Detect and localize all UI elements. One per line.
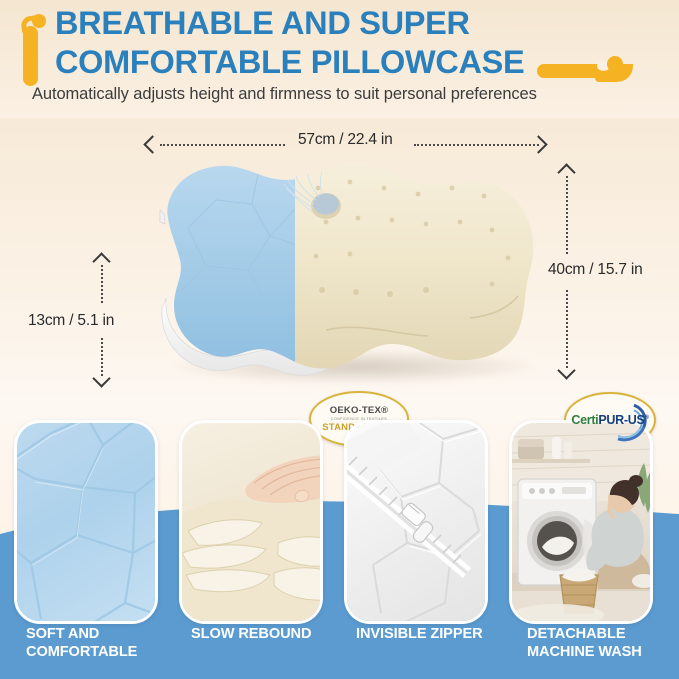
hand-shape	[245, 455, 323, 503]
person-standing-body	[23, 26, 38, 86]
pillow-care-tag	[160, 210, 165, 224]
person-standing-head	[32, 14, 46, 28]
height-dimension-label: 40cm / 15.7 in	[548, 261, 643, 279]
width-dimension-line-left	[160, 144, 285, 146]
quilt-stitch-pattern	[17, 423, 158, 624]
pillow-product-photo: OEKO-TEX® CONFIDENCE IN TEXTILES STANDAR…	[140, 158, 560, 394]
thickness-dimension-label: 13cm / 5.1 in	[28, 312, 114, 330]
certipur-registered-mark: ®	[644, 415, 648, 421]
foam-impression-shapes	[182, 423, 323, 624]
width-dimension-line-right	[414, 144, 539, 146]
subtitle: Automatically adjusts height and firmnes…	[32, 85, 652, 104]
certipur-part-purus: PUR-US	[598, 413, 644, 427]
pillow-illustration	[140, 158, 560, 394]
certipur-us-label: CertiPUR-US®	[571, 413, 648, 427]
height-dimension-line-top	[566, 176, 568, 254]
features-section: SOFT ANDCOMFORTABLE SLOW REBOUND INVISIB…	[0, 396, 679, 679]
person-lying-on-pillow-icon	[537, 56, 647, 88]
feature-caption-soft-and-comfortable: SOFT ANDCOMFORTABLE	[26, 625, 186, 661]
thickness-arrow-down-icon	[92, 369, 110, 387]
laundry-room-scene	[512, 423, 653, 624]
feature-image-invisible-zipper	[344, 420, 488, 624]
feature-image-soft-and-comfortable	[14, 420, 158, 624]
lying-person-head	[607, 56, 623, 72]
page-title: BREATHABLE AND SUPER COMFORTABLE PILLOWC…	[55, 4, 585, 82]
width-arrow-left-icon	[143, 135, 161, 153]
header-banner: BREATHABLE AND SUPER COMFORTABLE PILLOWC…	[0, 0, 679, 118]
feature-image-slow-rebound	[179, 420, 323, 624]
feature-image-detachable-machine-wash	[509, 420, 653, 624]
width-dimension-label: 57cm / 22.4 in	[298, 131, 393, 149]
certipur-part-certi: Certi	[571, 413, 598, 427]
feature-caption-slow-rebound: SLOW REBOUND	[191, 625, 351, 643]
title-line-1: BREATHABLE AND SUPER	[55, 4, 585, 43]
height-dimension-line-bottom	[566, 290, 568, 368]
feature-caption-invisible-zipper: INVISIBLE ZIPPER	[356, 625, 516, 643]
height-arrow-up-icon	[557, 163, 575, 181]
width-arrow-right-icon	[529, 135, 547, 153]
height-arrow-down-icon	[557, 361, 575, 379]
person-standing-icon	[12, 14, 52, 86]
thickness-arrow-up-icon	[92, 252, 110, 270]
zipper-and-quilt-detail	[347, 423, 488, 624]
title-line-2: COMFORTABLE PILLOWCASE	[55, 43, 585, 82]
feature-caption-detachable-machine-wash: DETACHABLEMACHINE WASH	[527, 625, 679, 661]
